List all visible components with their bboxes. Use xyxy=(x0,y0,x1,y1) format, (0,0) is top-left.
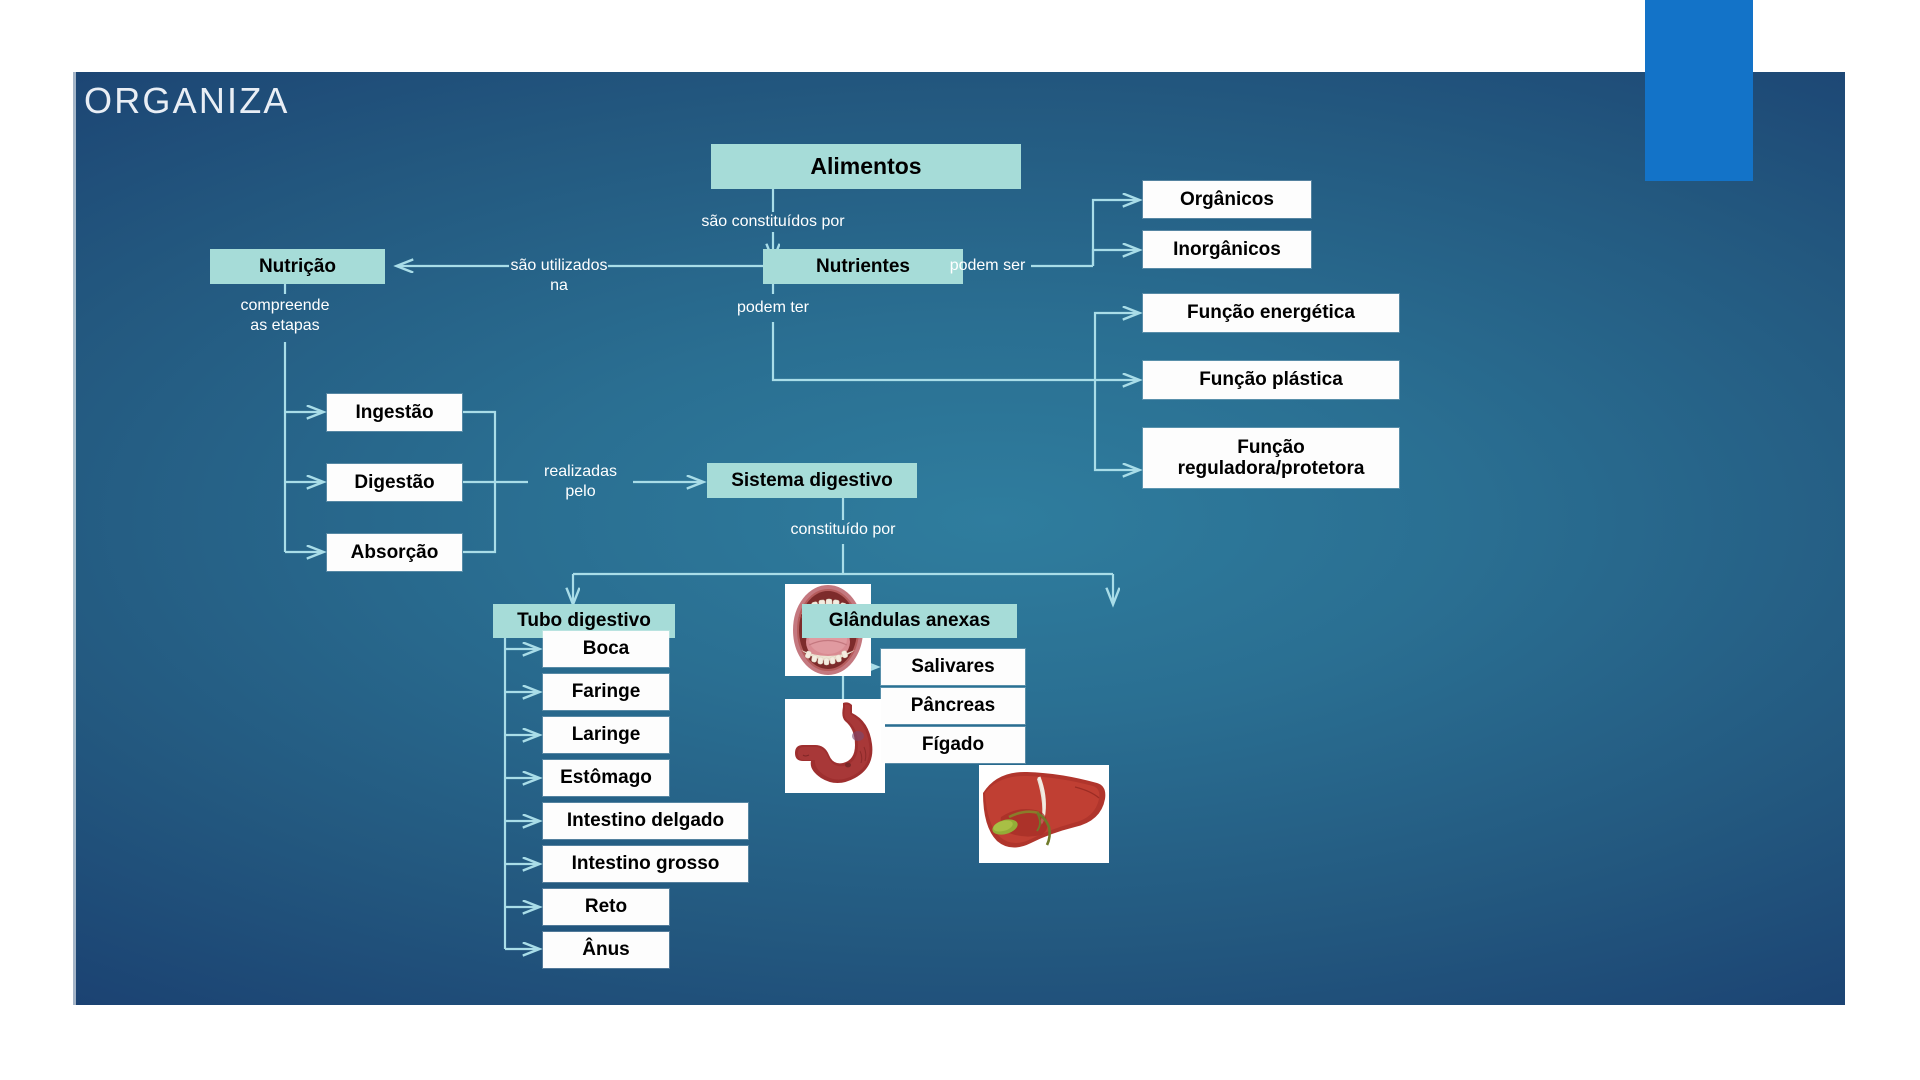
node-glandula-item-label: Salivares xyxy=(911,656,994,677)
connector-label-sao-utilizados-na: são utilizados na xyxy=(509,256,609,295)
node-tubo-item-label: Faringe xyxy=(572,681,641,702)
node-absorcao[interactable]: Absorção xyxy=(327,534,462,571)
connector-label-constituido-por: constituído por xyxy=(733,520,953,540)
node-organicos[interactable]: Orgânicos xyxy=(1143,181,1311,218)
node-nutrientes-label: Nutrientes xyxy=(816,256,910,277)
node-ingestao[interactable]: Ingestão xyxy=(327,394,462,431)
node-tubo-item-estomago[interactable]: Estômago xyxy=(543,760,669,796)
node-nutricao-label: Nutrição xyxy=(259,256,336,277)
node-digestao-label: Digestão xyxy=(354,472,434,493)
node-tubo-item-label: Intestino delgado xyxy=(567,810,724,831)
node-alimentos[interactable]: Alimentos xyxy=(711,144,1021,189)
node-funcao-plastica[interactable]: Função plástica xyxy=(1143,361,1399,399)
node-glandula-item-pancreas[interactable]: Pâncreas xyxy=(881,688,1025,724)
node-tubo-item-label: Estômago xyxy=(560,767,652,788)
node-funcao-reguladora[interactable]: Função reguladora/protetora xyxy=(1143,428,1399,488)
connector-label-compreende-as-etapas: compreende as etapas xyxy=(210,296,360,335)
connector-label-realizadas-pelo: realizadas pelo xyxy=(528,462,633,501)
node-nutrientes[interactable]: Nutrientes xyxy=(763,249,963,284)
node-organicos-label: Orgânicos xyxy=(1180,189,1274,210)
node-nutricao[interactable]: Nutrição xyxy=(210,249,385,284)
node-funcao-reguladora-label: Função reguladora/protetora xyxy=(1149,437,1393,480)
slide-left-edge xyxy=(73,72,76,1005)
node-funcao-plastica-label: Função plástica xyxy=(1199,369,1343,390)
node-tubo-item-label: Boca xyxy=(583,638,629,659)
connector-label-podem-ser: podem ser xyxy=(944,256,1031,276)
node-tubo-item-laringe[interactable]: Laringe xyxy=(543,717,669,753)
node-glandula-item-label: Fígado xyxy=(922,734,984,755)
node-sistema-digestivo-label: Sistema digestivo xyxy=(731,470,893,491)
node-funcao-energetica-label: Função energética xyxy=(1187,302,1355,323)
node-inorganicos[interactable]: Inorgânicos xyxy=(1143,231,1311,268)
node-tubo-item-label: Reto xyxy=(585,896,627,917)
node-glandulas-anexas-label: Glândulas anexas xyxy=(829,610,991,631)
node-tubo-item-intestino-delgado[interactable]: Intestino delgado xyxy=(543,803,748,839)
node-tubo-item-faringe[interactable]: Faringe xyxy=(543,674,669,710)
node-funcao-energetica[interactable]: Função energética xyxy=(1143,294,1399,332)
node-alimentos-label: Alimentos xyxy=(810,154,921,180)
node-tubo-digestivo-label: Tubo digestivo xyxy=(517,610,651,631)
node-tubo-item-label: Ânus xyxy=(582,939,630,960)
node-tubo-item-anus[interactable]: Ânus xyxy=(543,932,669,968)
connector-label-podem-ter: podem ter xyxy=(703,298,843,318)
liver-anatomy-image xyxy=(979,765,1109,863)
node-digestao[interactable]: Digestão xyxy=(327,464,462,501)
node-glandula-item-salivares[interactable]: Salivares xyxy=(881,649,1025,685)
connector-label-sao-constituidos-por: são constituídos por xyxy=(673,212,873,232)
node-tubo-item-reto[interactable]: Reto xyxy=(543,889,669,925)
node-tubo-item-boca[interactable]: Boca xyxy=(543,631,669,667)
node-inorganicos-label: Inorgânicos xyxy=(1173,239,1281,260)
node-glandula-item-label: Pâncreas xyxy=(911,695,996,716)
node-tubo-item-intestino-grosso[interactable]: Intestino grosso xyxy=(543,846,748,882)
node-ingestao-label: Ingestão xyxy=(355,402,433,423)
node-tubo-item-label: Intestino grosso xyxy=(572,853,720,874)
node-absorcao-label: Absorção xyxy=(351,542,439,563)
presentation-slide: ORGANIZA xyxy=(73,72,1845,1005)
accent-rectangle-decoration xyxy=(1645,0,1753,181)
node-glandulas-anexas[interactable]: Glândulas anexas xyxy=(802,604,1017,638)
node-tubo-item-label: Laringe xyxy=(572,724,641,745)
slide-canvas: ORGANIZA xyxy=(0,0,1920,1080)
stomach-anatomy-image xyxy=(785,699,885,793)
node-glandula-item-figado[interactable]: Fígado xyxy=(881,727,1025,763)
node-sistema-digestivo[interactable]: Sistema digestivo xyxy=(707,463,917,498)
page-title: ORGANIZA xyxy=(84,80,290,122)
